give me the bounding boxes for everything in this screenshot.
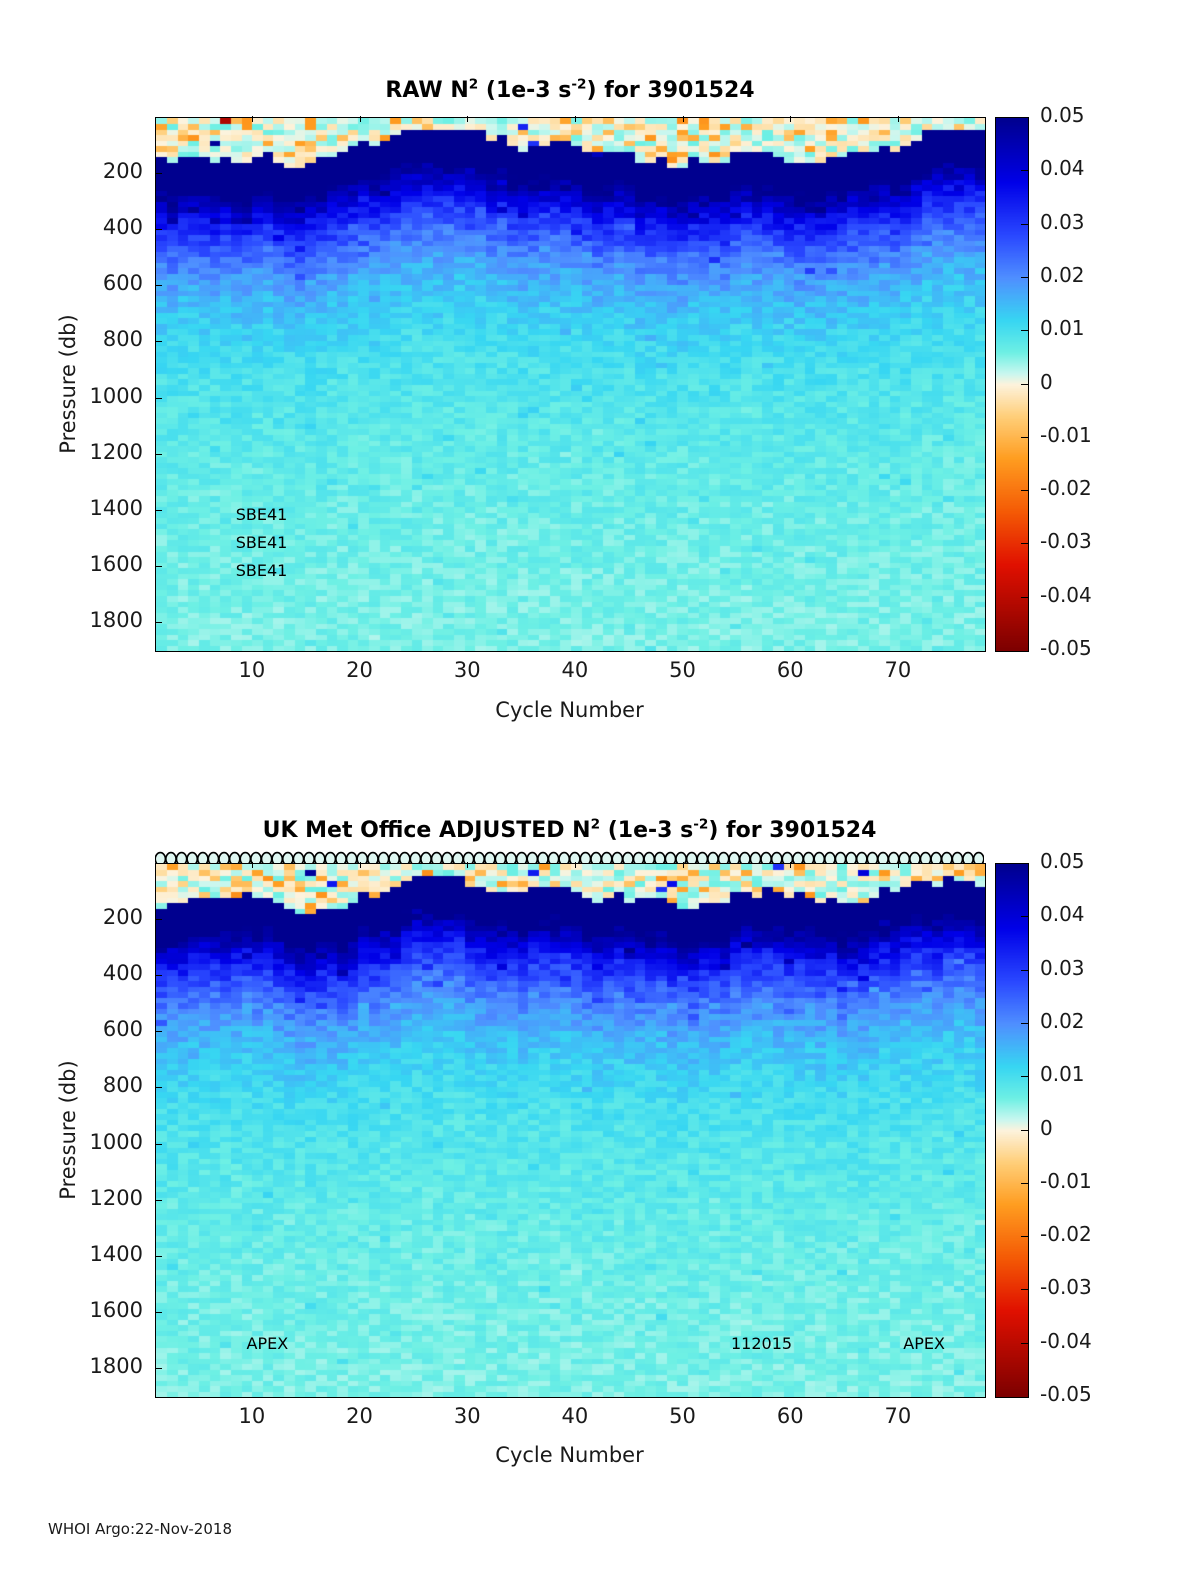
x-tick-label: 60 (750, 1404, 830, 1428)
colorbar-raw (995, 117, 1029, 652)
y-tick-mark (155, 510, 162, 511)
colorbar-tick-label: -0.01 (1040, 423, 1092, 447)
colorbar-tick-label: 0 (1040, 370, 1053, 394)
y-tick-mark (155, 975, 162, 976)
colorbar-tick-mark (1021, 490, 1028, 491)
y-tick-mark (155, 1312, 162, 1313)
y-tick-label: 600 (55, 1017, 143, 1041)
colorbar-tick-mark (1021, 597, 1028, 598)
plot-annotation: SBE41 (236, 561, 288, 580)
plot-annotation: APEX (247, 1334, 289, 1353)
x-tick-mark (683, 862, 684, 868)
y-tick-label: 1600 (55, 1298, 143, 1322)
colorbar-tick-label: -0.03 (1040, 1275, 1092, 1299)
x-tick-mark (683, 116, 684, 122)
colorbar-tick-label: 0.05 (1040, 103, 1085, 127)
plot-annotation: SBE41 (236, 533, 288, 552)
y-tick-mark (155, 622, 162, 623)
colorbar-tick-mark (1021, 330, 1028, 331)
x-tick-mark (575, 862, 576, 868)
x-tick-label: 20 (320, 1404, 400, 1428)
colorbar-tick-label: 0.04 (1040, 156, 1085, 180)
x-tick-label: 50 (643, 658, 723, 682)
y-tick-label: 1600 (55, 552, 143, 576)
colorbar-tick-label: 0.03 (1040, 956, 1085, 980)
x-tick-mark (790, 862, 791, 868)
colorbar-adjusted (995, 863, 1029, 1398)
y-tick-mark (155, 1087, 162, 1088)
plot-annotation: 112015 (731, 1334, 792, 1353)
x-tick-mark (252, 116, 253, 122)
y-tick-label: 1800 (55, 1354, 143, 1378)
title-text-post: ) for 3901524 (587, 78, 755, 103)
title-text-mid: (1e-3 s (478, 78, 571, 103)
title-text-pre: UK Met Office ADJUSTED N (263, 818, 591, 843)
colorbar-tick-mark (1021, 1343, 1028, 1344)
colorbar-tick-label: 0.03 (1040, 210, 1085, 234)
y-tick-mark (155, 173, 162, 174)
colorbar-tick-mark (1021, 543, 1028, 544)
colorbar-tick-label: 0.04 (1040, 902, 1085, 926)
colorbar-tick-mark (1021, 277, 1028, 278)
y-tick-label: 1000 (55, 384, 143, 408)
y-tick-mark (155, 1256, 162, 1257)
x-axis-label-adjusted: Cycle Number (155, 1443, 984, 1467)
x-tick-label: 50 (643, 1404, 723, 1428)
y-tick-label: 1000 (55, 1130, 143, 1154)
y-tick-mark (155, 1144, 162, 1145)
colorbar-tick-mark (1021, 1183, 1028, 1184)
colorbar-tick-mark (1021, 1236, 1028, 1237)
colorbar-tick-label: -0.02 (1040, 1222, 1092, 1246)
heatmap-axes-adjusted[interactable] (155, 863, 986, 1398)
plot-title-adjusted: UK Met Office ADJUSTED N2 (1e-3 s-2) for… (155, 818, 984, 843)
y-tick-label: 200 (55, 905, 143, 929)
colorbar-tick-label: -0.01 (1040, 1169, 1092, 1193)
plot-annotation: SBE41 (236, 505, 288, 524)
title-sup-s2: -2 (693, 817, 708, 833)
colorbar-tick-label: 0.01 (1040, 1062, 1085, 1086)
x-tick-mark (467, 862, 468, 868)
x-tick-mark (360, 116, 361, 122)
colorbar-tick-mark (1021, 970, 1028, 971)
x-tick-mark (790, 116, 791, 122)
title-sup-n2: 2 (591, 817, 600, 833)
colorbar-tick-mark (1021, 384, 1028, 385)
colorbar-tick-label: 0.02 (1040, 1009, 1085, 1033)
colorbar-tick-label: 0.02 (1040, 263, 1085, 287)
y-tick-label: 1400 (55, 496, 143, 520)
colorbar-tick-label: -0.04 (1040, 1329, 1092, 1353)
x-tick-label: 30 (427, 1404, 507, 1428)
colorbar-tick-label: -0.04 (1040, 583, 1092, 607)
y-tick-mark (155, 398, 162, 399)
y-tick-mark (155, 229, 162, 230)
x-tick-label: 70 (858, 658, 938, 682)
x-tick-mark (360, 862, 361, 868)
x-tick-mark (467, 116, 468, 122)
colorbar-tick-mark (1021, 1023, 1028, 1024)
colorbar-tick-mark (1021, 1076, 1028, 1077)
y-tick-mark (155, 566, 162, 567)
colorbar-tick-label: -0.05 (1040, 1382, 1092, 1406)
colorbar-tick-label: -0.03 (1040, 529, 1092, 553)
y-tick-mark (155, 1368, 162, 1369)
y-tick-label: 1200 (55, 440, 143, 464)
colorbar-tick-mark (1021, 1289, 1028, 1290)
y-tick-label: 1200 (55, 1186, 143, 1210)
y-tick-label: 800 (55, 327, 143, 351)
y-tick-label: 400 (55, 961, 143, 985)
y-tick-mark (155, 1031, 162, 1032)
figure-footer: WHOI Argo:22-Nov-2018 (48, 1520, 232, 1538)
y-tick-label: 200 (55, 159, 143, 183)
x-tick-mark (898, 116, 899, 122)
x-axis-label-raw: Cycle Number (155, 698, 984, 722)
plot-title-raw: RAW N2 (1e-3 s-2) for 3901524 (155, 78, 985, 103)
y-tick-label: 600 (55, 271, 143, 295)
x-tick-label: 60 (750, 658, 830, 682)
x-tick-mark (898, 862, 899, 868)
colorbar-tick-mark (1021, 224, 1028, 225)
y-tick-label: 400 (55, 215, 143, 239)
colorbar-tick-label: -0.05 (1040, 636, 1092, 660)
x-tick-mark (575, 116, 576, 122)
colorbar-tick-mark (1021, 170, 1028, 171)
y-tick-mark (155, 285, 162, 286)
y-tick-mark (155, 341, 162, 342)
y-tick-mark (155, 919, 162, 920)
x-tick-label: 20 (320, 658, 400, 682)
x-tick-label: 10 (212, 1404, 292, 1428)
x-tick-label: 10 (212, 658, 292, 682)
x-tick-label: 30 (427, 658, 507, 682)
colorbar-tick-label: 0.05 (1040, 849, 1085, 873)
colorbar-tick-mark (1021, 1130, 1028, 1131)
title-text-post: ) for 3901524 (708, 818, 876, 843)
title-sup-n2: 2 (469, 77, 478, 93)
title-text-pre: RAW N (385, 78, 468, 103)
y-tick-mark (155, 1200, 162, 1201)
x-tick-label: 40 (535, 1404, 615, 1428)
y-tick-label: 1800 (55, 608, 143, 632)
title-sup-s2: -2 (571, 77, 586, 93)
colorbar-tick-label: 0.01 (1040, 316, 1085, 340)
y-tick-label: 800 (55, 1073, 143, 1097)
title-text-mid: (1e-3 s (600, 818, 693, 843)
plot-annotation: APEX (903, 1334, 945, 1353)
x-tick-label: 70 (858, 1404, 938, 1428)
y-tick-mark (155, 454, 162, 455)
colorbar-tick-mark (1021, 916, 1028, 917)
colorbar-tick-label: 0 (1040, 1116, 1053, 1140)
y-tick-label: 1400 (55, 1242, 143, 1266)
colorbar-tick-label: -0.02 (1040, 476, 1092, 500)
x-tick-mark (252, 862, 253, 868)
colorbar-tick-mark (1021, 437, 1028, 438)
x-tick-label: 40 (535, 658, 615, 682)
